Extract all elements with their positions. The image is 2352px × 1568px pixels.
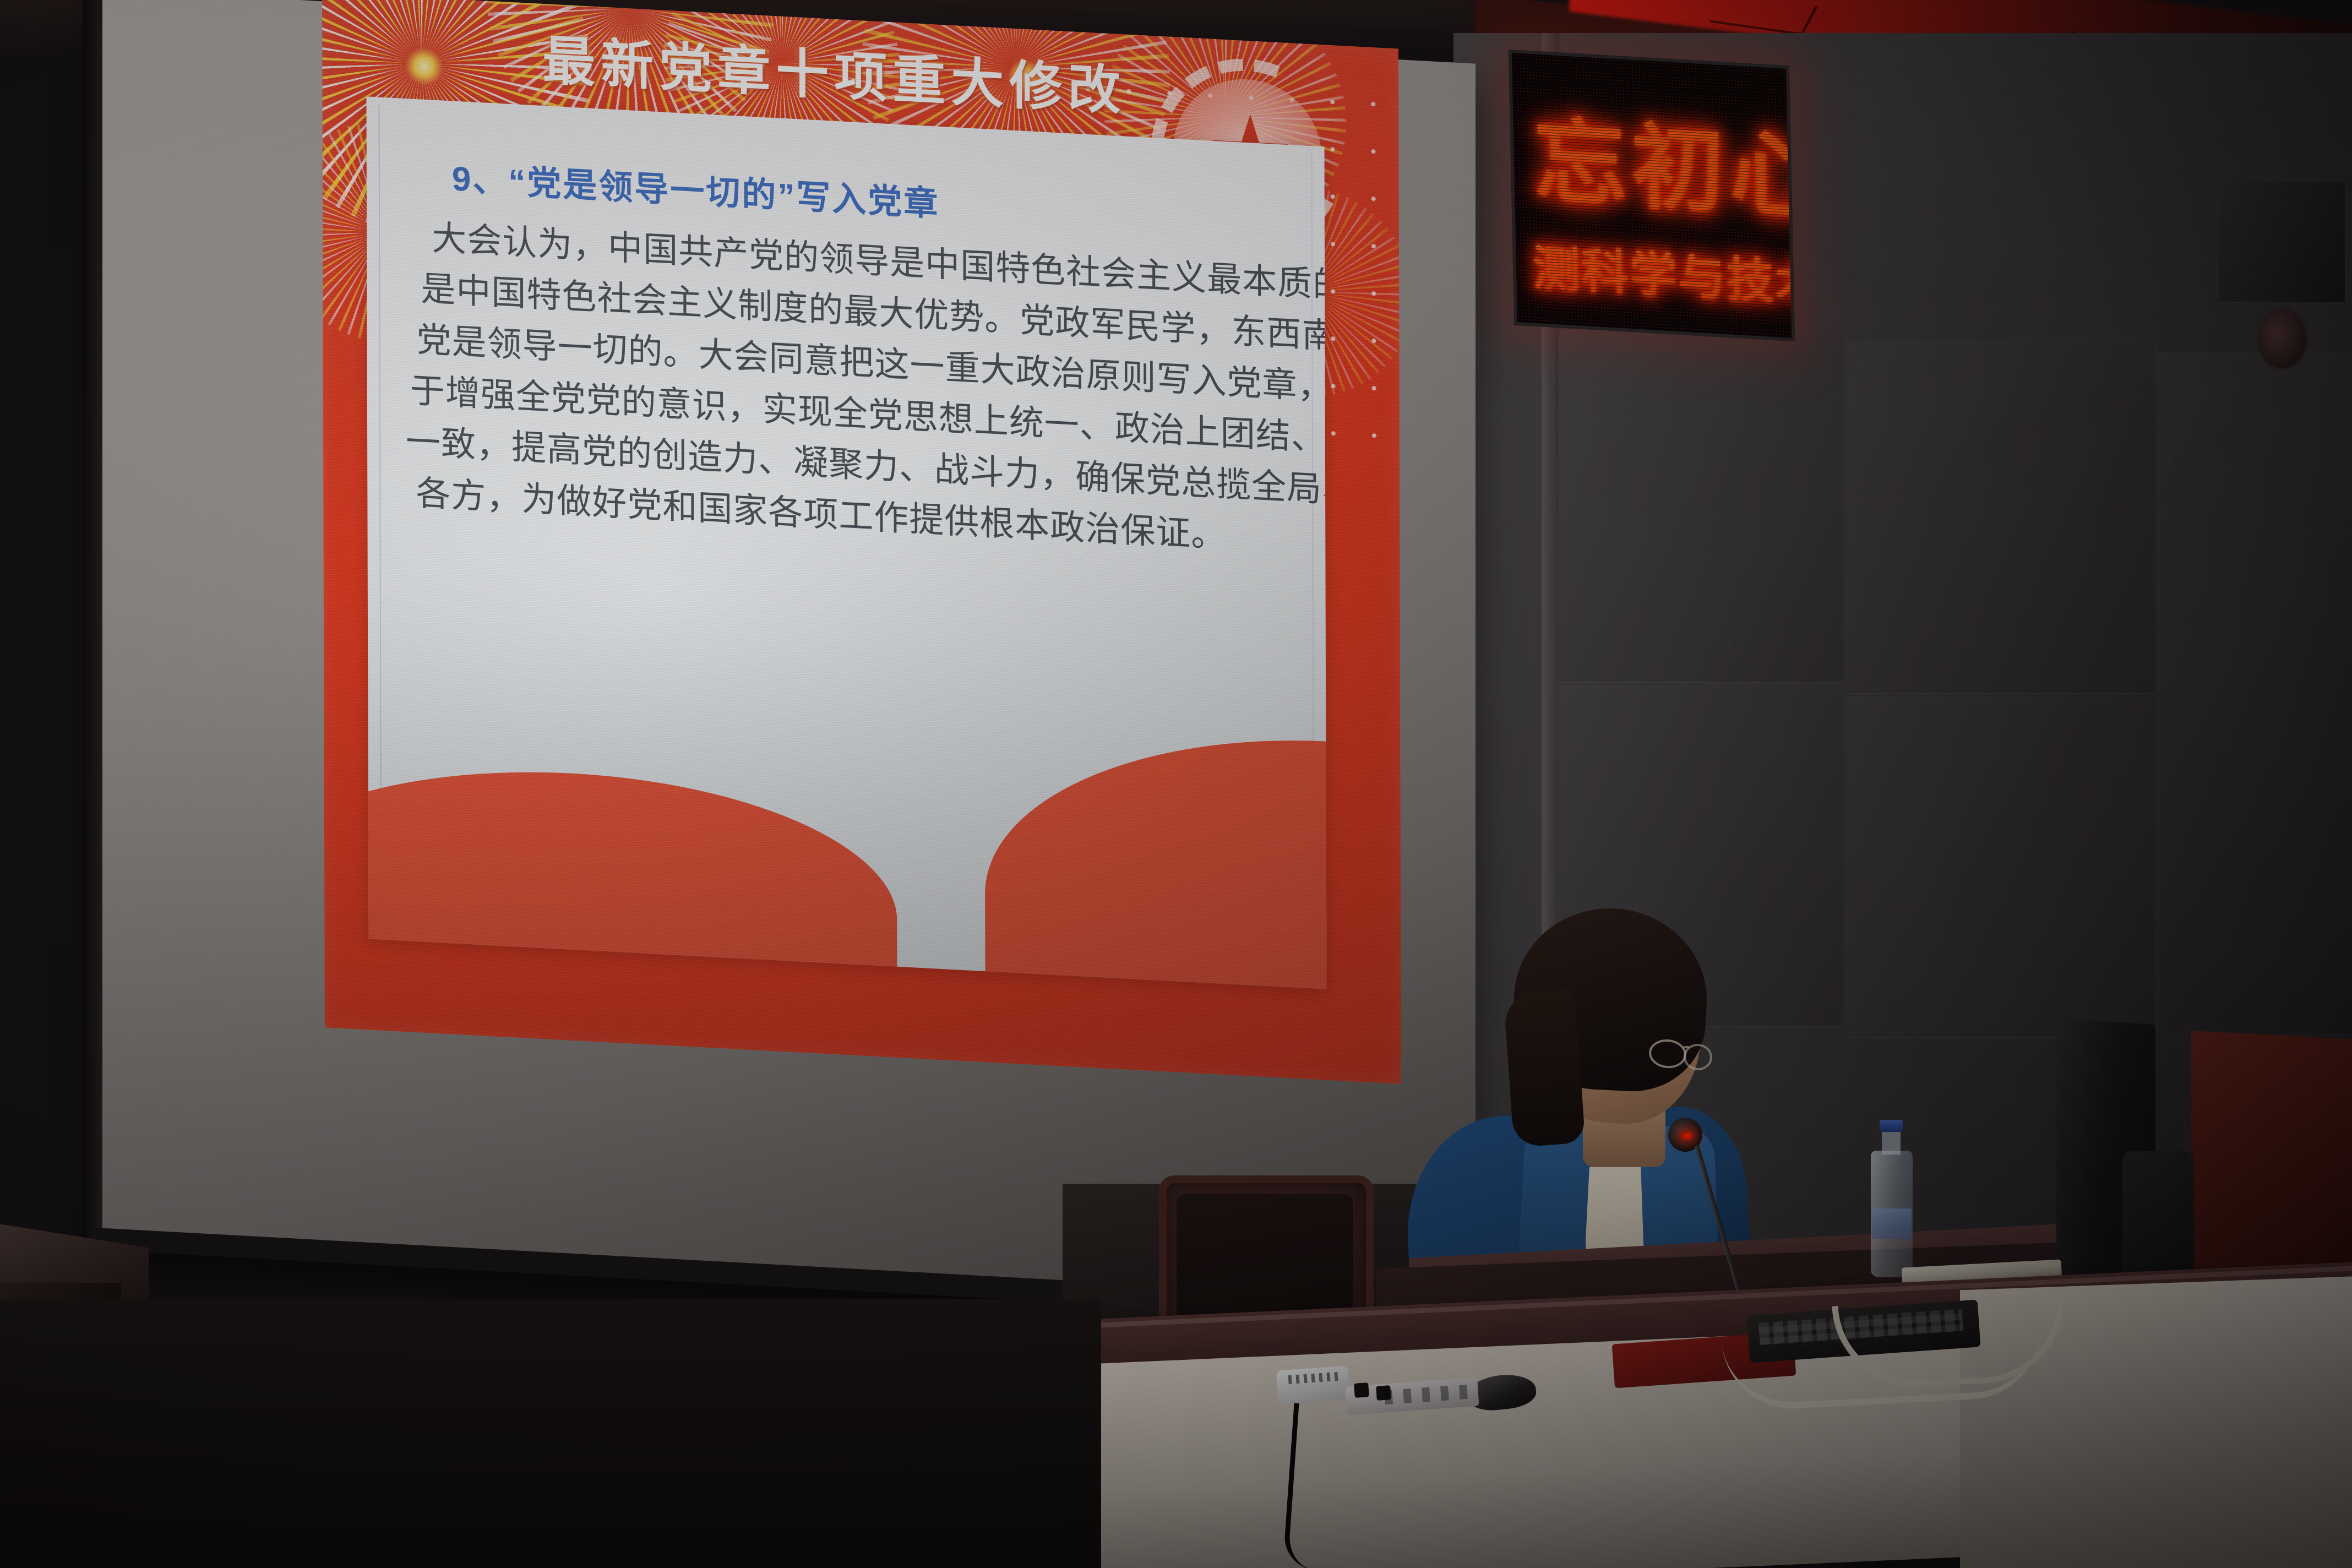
glasses-bridge [1684, 1046, 1689, 1048]
wall-panel [1847, 696, 2155, 1038]
power-strip-plug [1354, 1382, 1369, 1398]
wall-panel [1847, 341, 2155, 694]
floor [0, 1299, 1101, 1568]
bottle-cap[interactable] [1880, 1120, 1903, 1132]
microphone-status-led [1680, 1131, 1694, 1140]
led-sign-line-1: 忘初心 [1532, 86, 1795, 236]
presenter-hair-side [1503, 989, 1585, 1147]
lecture-hall-scene: 忘初心 测科学与技术学院 最新党章十项重大修改 9、“党是领导一切的”写入党章 … [0, 0, 2352, 1568]
wall-panel [2158, 352, 2352, 1035]
remote-control[interactable] [1276, 1366, 1350, 1404]
speaker-cone-icon [2257, 308, 2307, 369]
slide-content-card: 9、“党是领导一切的”写入党章 大会认为，中国共产党的领导是中国特色社会主义最本… [366, 96, 1326, 989]
screen-left-edge [83, 0, 102, 1272]
led-marquee-sign: 忘初心 测科学与技术学院 [1509, 50, 1795, 341]
slide-body-text: 大会认为，中国共产党的领导是中国特色社会主义最本质的特征， 是中国特色社会主义制… [405, 211, 1298, 565]
wall-speaker [2219, 182, 2345, 303]
bottle-label [1872, 1208, 1912, 1239]
power-strip-plug [1376, 1385, 1391, 1401]
wall-panel [1558, 330, 1844, 683]
presentation-slide: 最新党章十项重大修改 9、“党是领导一切的”写入党章 大会认为，中国共产党的领导… [322, 0, 1401, 1084]
